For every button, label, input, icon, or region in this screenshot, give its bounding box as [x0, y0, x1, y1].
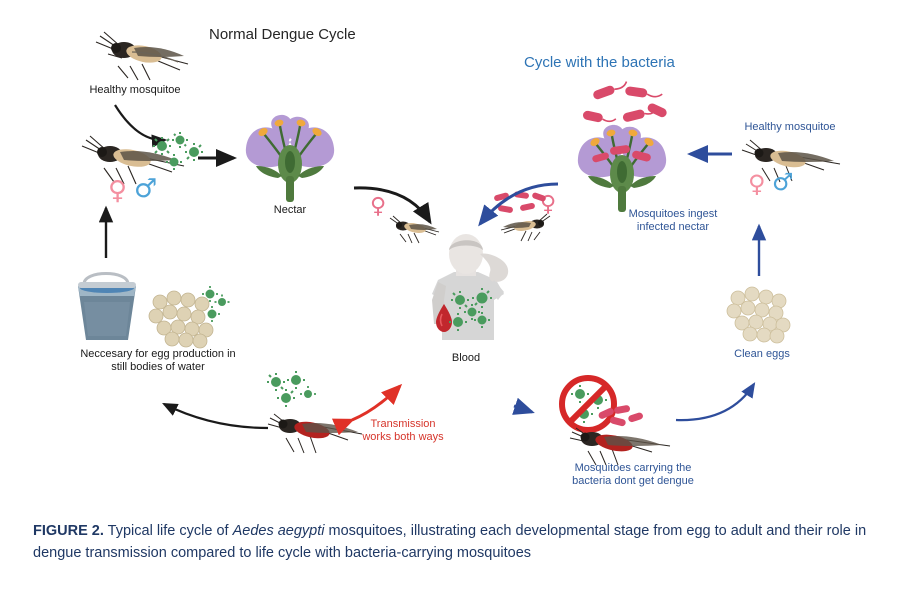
infected-nectar-flower-icon: [570, 118, 674, 219]
caption-text-a: Typical life cycle of: [104, 523, 233, 539]
arrow-healthy-right-to-flower: [680, 144, 742, 164]
person-with-dengue-icon: [412, 236, 520, 351]
caption-prefix: FIGURE 2.: [33, 523, 104, 539]
male-symbol-left: ♂: [134, 176, 157, 202]
water-bucket-icon: [74, 268, 140, 349]
ingest-nectar-label: Mosquitoes ingest infected nectar: [578, 208, 768, 233]
male-symbol-right: ♂: [772, 170, 794, 194]
female-symbol-right: ♀: [748, 172, 766, 196]
healthy-mosquito-right-label: Healthy mosquitoe: [700, 121, 880, 134]
arrow-transmission-to-eggs: [142, 392, 274, 444]
arrow-transmission-to-bacteria-mosquito: [512, 398, 546, 420]
egg-production-label: Neccesary for egg production in still bo…: [52, 348, 264, 373]
arrow-clean-eggs-to-mosquito: [748, 218, 770, 280]
clean-eggs-label: Clean eggs: [700, 348, 824, 361]
figure-caption: FIGURE 2. Typical life cycle of Aedes ae…: [33, 521, 873, 565]
arrow-eggs-to-mosquito: [95, 200, 117, 262]
arrow-infected-nectar-to-mosquito: [466, 178, 566, 242]
clean-eggs-icon: [724, 284, 798, 345]
left-cycle-title: Normal Dengue Cycle: [209, 26, 356, 43]
infected-eggs-icon: [148, 286, 226, 351]
nectar-flower-icon: [238, 108, 342, 209]
transmission-label: Transmission works both ways: [348, 418, 458, 443]
caption-text-b: mosquitoes, illustrating each developmen…: [325, 523, 711, 539]
bacteria-no-dengue-label: Mosquitoes carrying the bacteria dont ge…: [528, 462, 738, 487]
healthy-mosquito-left-label: Healthy mosquitoe: [60, 84, 210, 97]
figure-diagram: Normal Dengue Cycle Cycle with the bacte…: [0, 0, 900, 505]
nectar-label: Nectar: [240, 204, 340, 217]
arrow-bacteria-mosquito-to-eggs: [672, 378, 782, 440]
caption-species-name: Aedes aegypti: [233, 523, 325, 539]
blood-label: Blood: [418, 352, 514, 365]
healthy-mosquito-left-icon: [88, 26, 198, 89]
right-cycle-title: Cycle with the bacteria: [524, 54, 675, 71]
